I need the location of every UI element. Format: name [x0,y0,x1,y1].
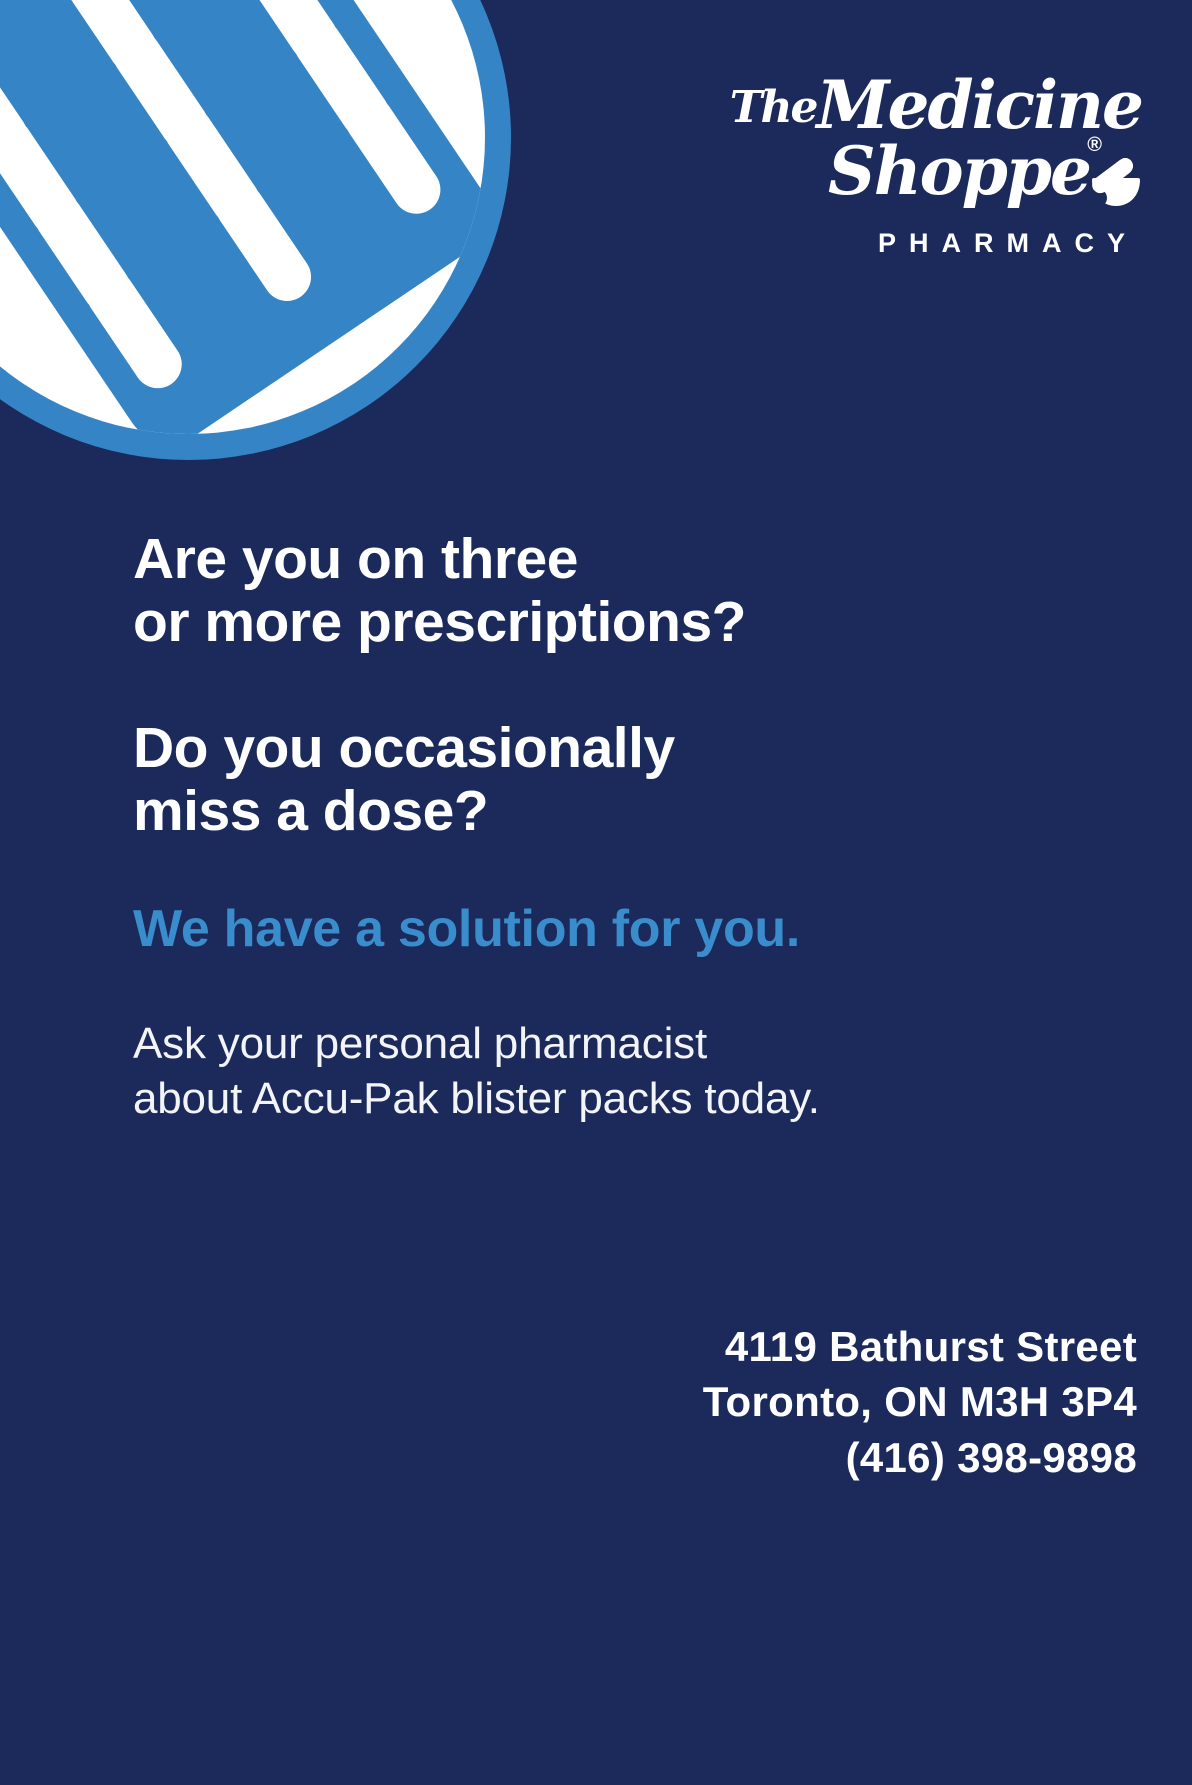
badge-white-circle [0,0,485,434]
logo-pharmacy-text: PHARMACY [742,228,1142,259]
poster-canvas: TheMedicine Shoppe ® PHARMACY Are you on… [0,0,1192,1785]
poster-content: Are you on three or more prescriptions? … [133,528,1073,1126]
logo-the-text: The [730,82,817,133]
headline-two-line-two: miss a dose? [133,780,1073,843]
address-street: 4119 Bathurst Street [703,1319,1137,1374]
medicine-shoppe-logo: TheMedicine Shoppe ® PHARMACY [742,72,1142,259]
mortar-and-pestle-icon [1084,158,1142,210]
blister-pack-icon [0,0,485,434]
logo-line-medicine: TheMedicine [730,72,1142,138]
call-to-action-copy: Ask your personal pharmacist about Accu-… [133,1016,1073,1126]
registered-trademark-icon: ® [1087,134,1102,157]
headline-two-line-one: Do you occasionally [133,717,1073,780]
cta-line-two: about Accu-Pak blister packs today. [133,1071,1073,1126]
logo-wordmark: TheMedicine Shoppe ® [742,72,1142,232]
logo-shoppe-text: Shoppe [828,132,1090,210]
cta-line-one: Ask your personal pharmacist [133,1016,1073,1071]
logo-line-shoppe: Shoppe [828,138,1090,204]
address-city-province-postal: Toronto, ON M3H 3P4 [703,1374,1137,1429]
address-phone[interactable]: (416) 398-9898 [703,1430,1137,1485]
store-address-block: 4119 Bathurst Street Toronto, ON M3H 3P4… [703,1319,1137,1485]
headline-one-line-one: Are you on three [133,528,1073,591]
solution-statement: We have a solution for you. [133,901,1073,958]
headline-question-one: Are you on three or more prescriptions? [133,528,1073,655]
headline-question-two: Do you occasionally miss a dose? [133,717,1073,844]
blister-pack-badge [0,0,511,460]
headline-one-line-two: or more prescriptions? [133,591,1073,654]
